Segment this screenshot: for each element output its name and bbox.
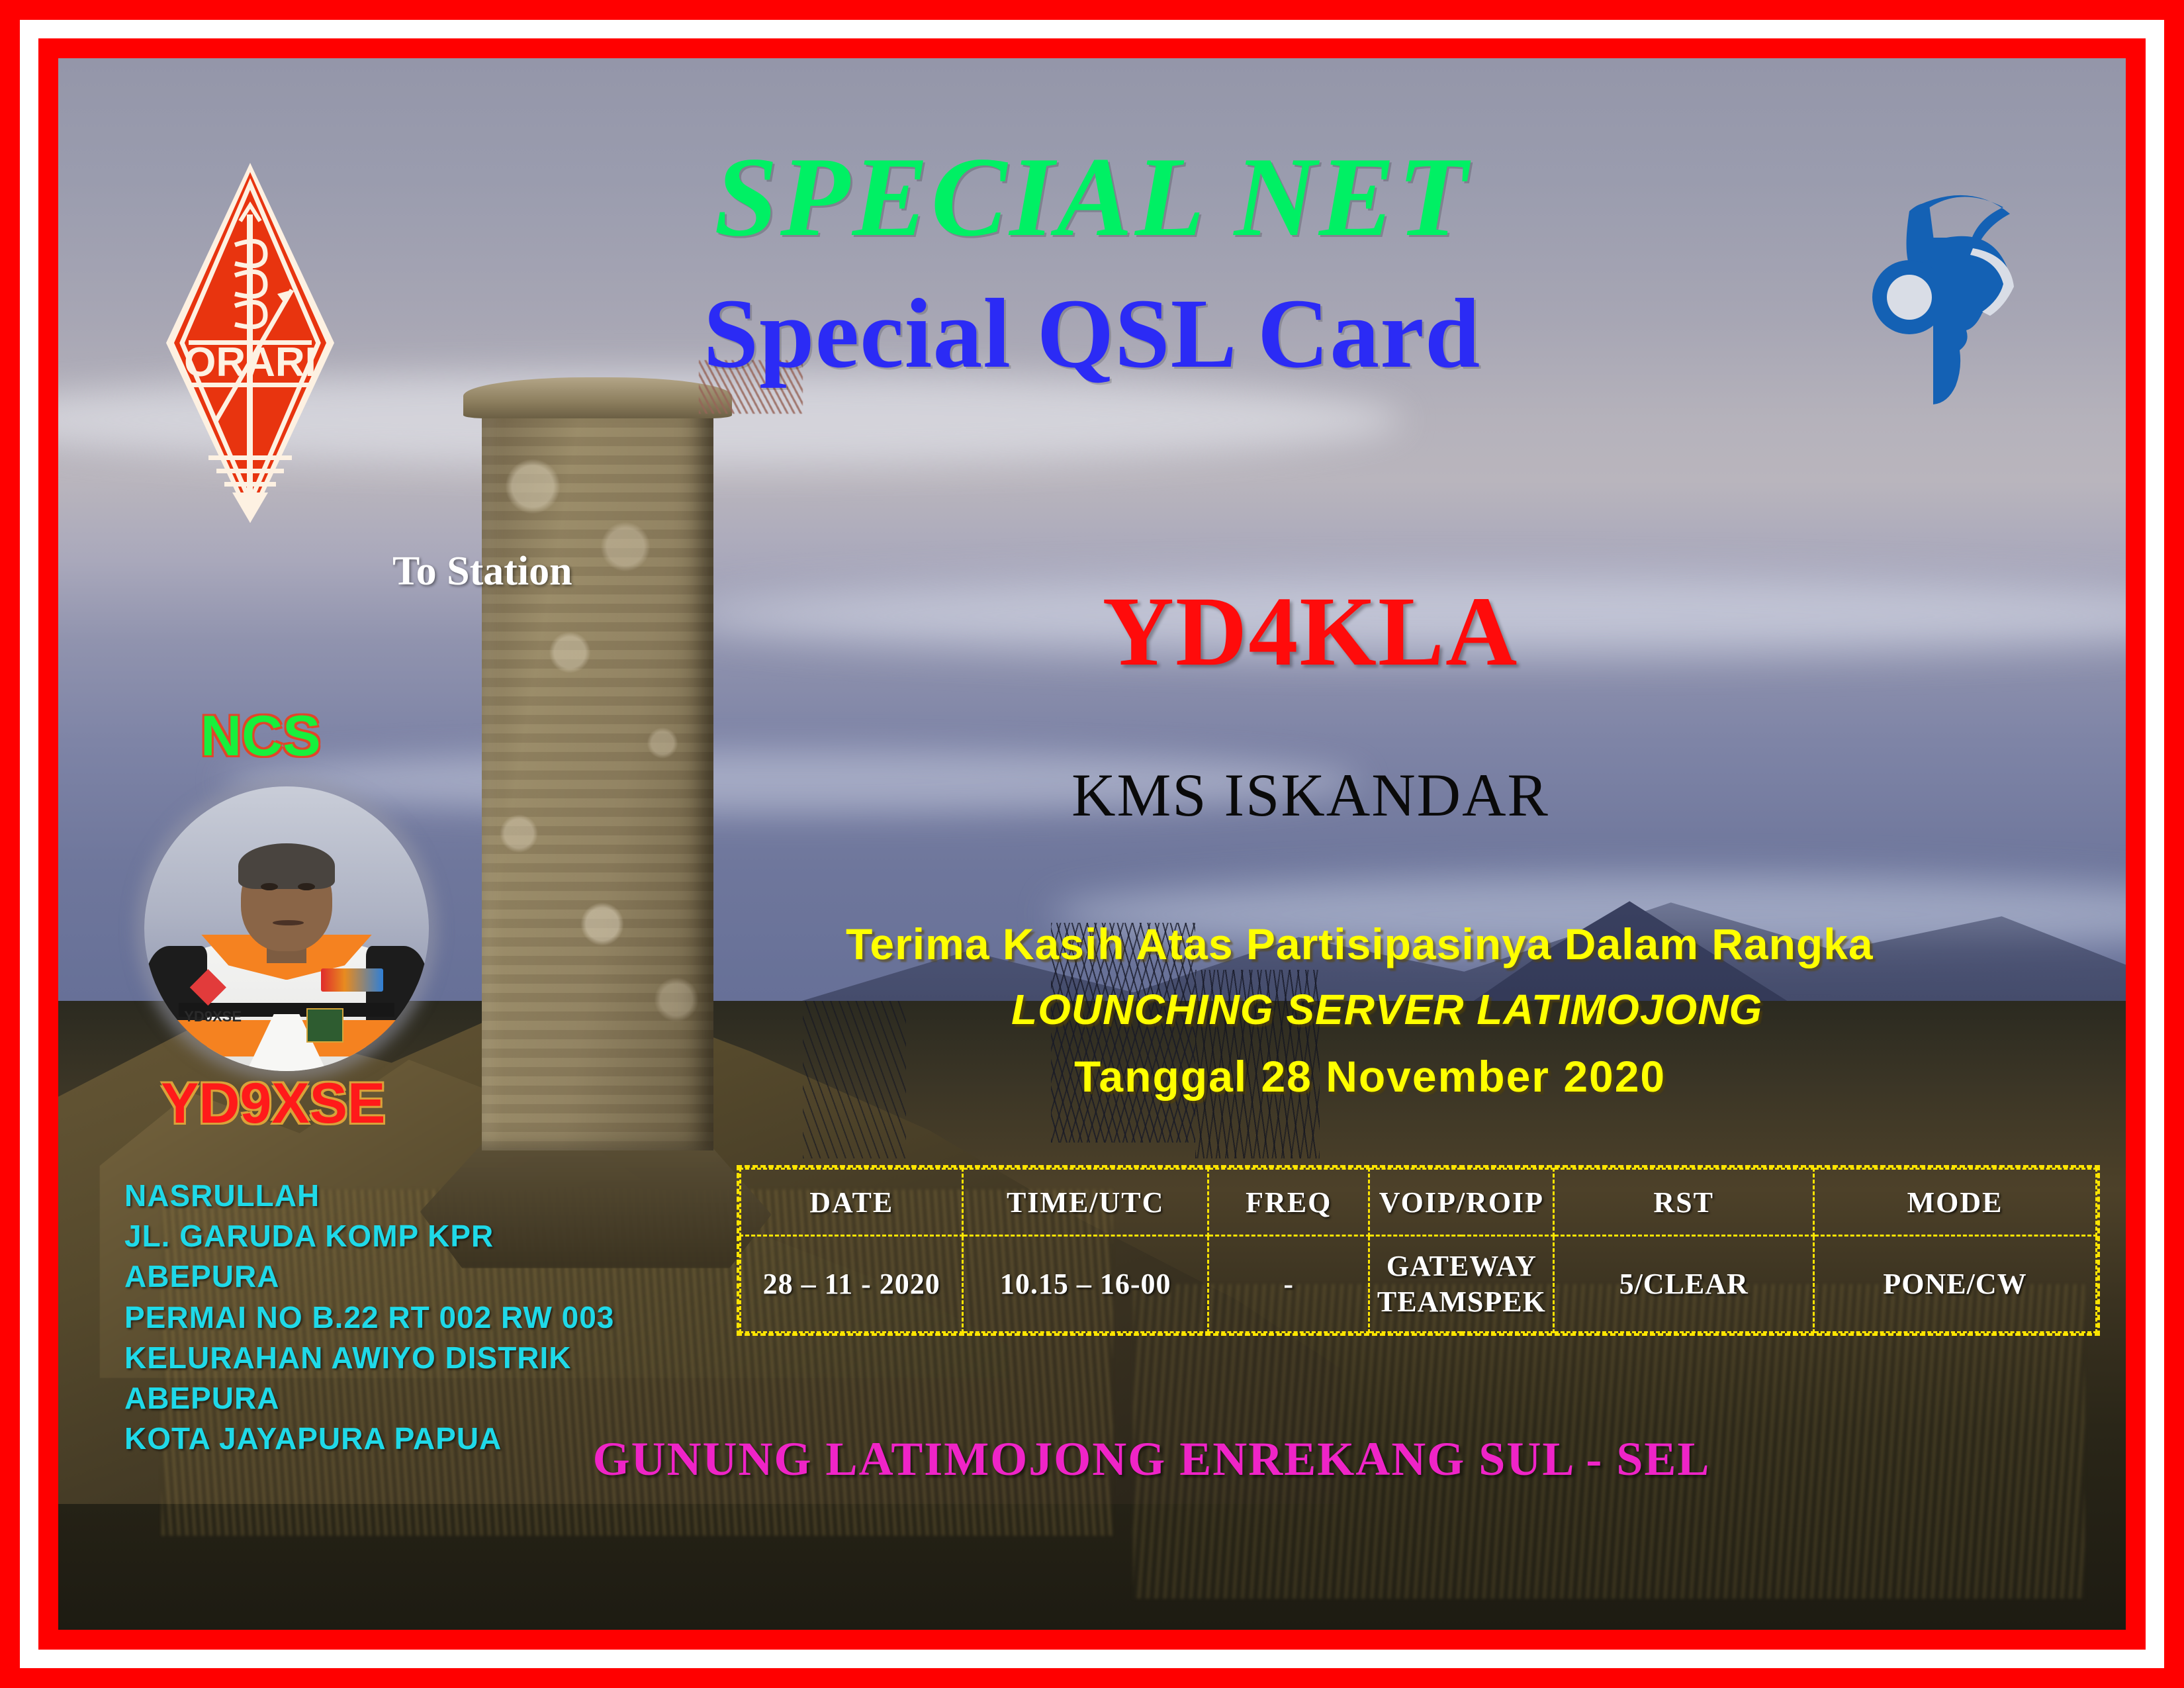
event-date-line: Tanggal 28 November 2020: [1074, 1051, 1666, 1102]
address-line: NASRULLAH: [124, 1176, 614, 1216]
page-title: SPECIAL NET: [58, 132, 2126, 263]
cell-date: 28 – 11 - 2020: [741, 1236, 963, 1333]
ncs-callsign: YD9XSE: [161, 1071, 385, 1137]
page-subtitle: Special QSL Card: [58, 277, 2126, 391]
cell-rst: 5/CLEAR: [1554, 1236, 1814, 1333]
avatar-badge-patch: [321, 968, 384, 991]
address-block: NASRULLAH JL. GARUDA KOMP KPR ABEPURA PE…: [124, 1176, 614, 1459]
location-label: GUNUNG LATIMOJONG ENREKANG SUL - SEL: [118, 1432, 2126, 1487]
station-callsign: YD4KLA: [277, 575, 2126, 688]
cell-time: 10.15 – 16-00: [963, 1236, 1208, 1333]
address-line: KELURAHAN AWIYO DISTRIK: [124, 1338, 614, 1378]
cell-freq: -: [1208, 1236, 1369, 1333]
avatar-shirt-callsign: YD9XSE: [184, 1008, 242, 1025]
event-subject-line: LOUNCHING SERVER LATIMOJONG: [1011, 985, 1762, 1034]
qso-log-table: DATE TIME/UTC FREQ VOIP/ROIP RST MODE 28…: [737, 1165, 2100, 1336]
address-line: ABEPURA: [124, 1378, 614, 1419]
operator-name: KMS ISKANDAR: [277, 760, 2126, 830]
column-header-voip: VOIP/ROIP: [1369, 1169, 1554, 1236]
column-header-time: TIME/UTC: [963, 1169, 1208, 1236]
column-header-date: DATE: [741, 1169, 963, 1236]
column-header-freq: FREQ: [1208, 1169, 1369, 1236]
address-line: JL. GARUDA KOMP KPR: [124, 1216, 614, 1256]
avatar-mouth: [273, 920, 304, 925]
address-line: ABEPURA: [124, 1256, 614, 1297]
avatar-id-card: [306, 1008, 343, 1042]
card-background-photo: ORARI SPECIAL NET Special Q: [58, 58, 2126, 1630]
cell-voip: GATEWAYTEAMSPEK: [1369, 1236, 1554, 1333]
column-header-rst: RST: [1554, 1169, 1814, 1236]
avatar-hair: [238, 843, 335, 889]
qsl-card: ORARI SPECIAL NET Special Q: [0, 0, 2184, 1688]
table-row: 28 – 11 - 2020 10.15 – 16-00 - GATEWAYTE…: [741, 1236, 2097, 1333]
operator-avatar: YD9XSE: [144, 786, 429, 1071]
column-header-mode: MODE: [1814, 1169, 2097, 1236]
bare-tree: [803, 1001, 906, 1158]
table-header-row: DATE TIME/UTC FREQ VOIP/ROIP RST MODE: [741, 1169, 2097, 1236]
cell-mode: PONE/CW: [1814, 1236, 2097, 1333]
address-line: PERMAI NO B.22 RT 002 RW 003: [124, 1297, 614, 1338]
ncs-label: NCS: [201, 704, 321, 769]
event-thanks-line: Terima Kasih Atas Partisipasinya Dalam R…: [846, 919, 1874, 969]
